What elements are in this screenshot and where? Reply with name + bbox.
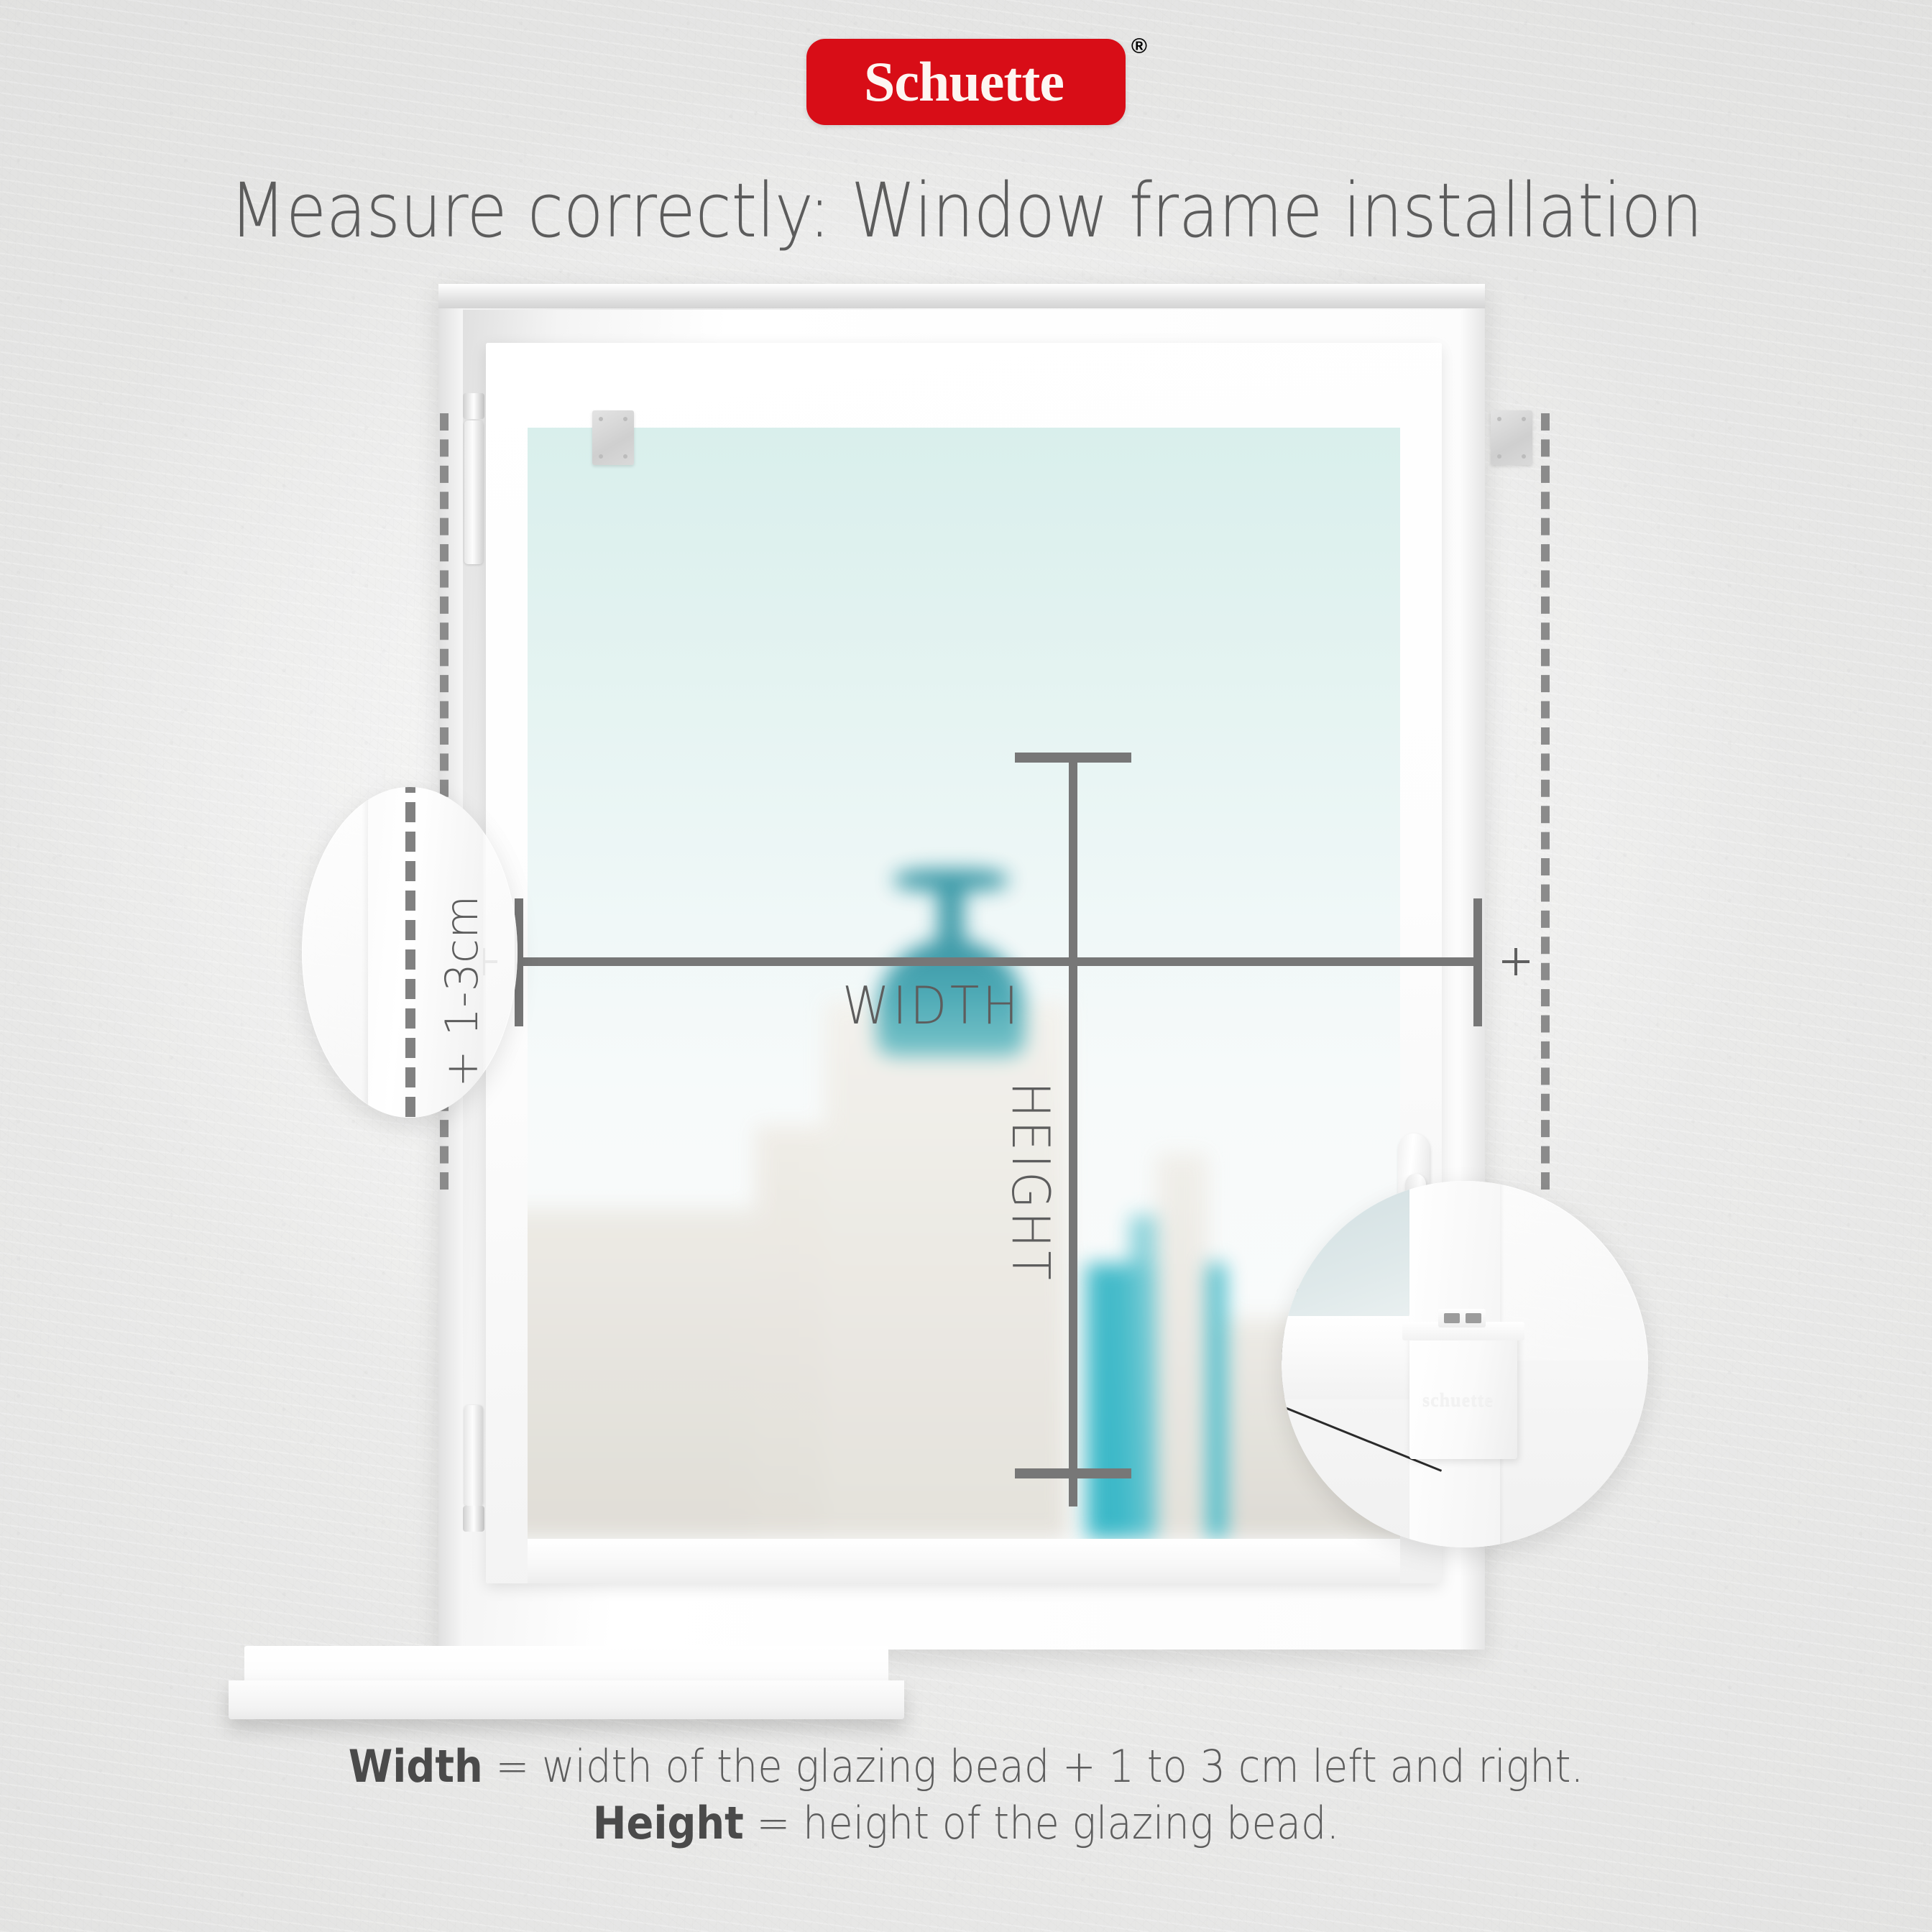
reveal-lintel [438, 284, 1485, 308]
magnifier-left-tolerance: + 1-3cm [302, 787, 517, 1118]
window-sill [229, 1646, 904, 1719]
tolerance-label: + 1-3cm [436, 896, 488, 1087]
building-right-slim [1156, 1153, 1208, 1539]
width-measure-line [515, 957, 1482, 966]
magnified-dashed-line [405, 787, 415, 1118]
blind-bracket-logo: schuette [1422, 1389, 1494, 1411]
height-measure-line [1069, 755, 1077, 1506]
window-sill-face [229, 1680, 904, 1719]
width-measure-endcap-right [1473, 898, 1482, 1026]
blind-bracket-slot-b [1466, 1313, 1481, 1323]
caption-height-rest: = height of the glazing bead. [744, 1797, 1339, 1849]
mounting-plate-right [1491, 410, 1532, 465]
brand-logo: Schuette ® [806, 39, 1126, 125]
blind-bracket-slot-a [1444, 1313, 1460, 1323]
magnified-frame-horizontal [1282, 1316, 1418, 1399]
width-label: WIDTH [842, 975, 1021, 1036]
brand-logo-text: Schuette [864, 54, 1068, 110]
window-frame-bottom-rail [528, 1539, 1400, 1583]
window-hinge-top [464, 420, 483, 564]
page-title: Measure correctly: Window frame installa… [116, 167, 1816, 254]
hinge-knuckle-top [463, 393, 484, 419]
caption-width-rest: = width of the glazing bead + 1 to 3 cm … [483, 1740, 1584, 1793]
mounting-plate-left [592, 410, 634, 465]
dome-statue-wings [894, 869, 1008, 891]
dashed-extension-line-right [1541, 413, 1550, 1190]
caption-block: Width = width of the glazing bead + 1 to… [0, 1738, 1932, 1852]
window-hinge-bottom [464, 1405, 483, 1506]
height-measure-endcap-top [1015, 753, 1131, 763]
cityscape-view [528, 850, 1400, 1539]
caption-height-bold: Height [593, 1797, 744, 1849]
caption-width-bold: Width [349, 1740, 483, 1793]
height-measure-endcap-bottom [1015, 1468, 1131, 1478]
height-label: HEIGHT [1000, 1082, 1061, 1283]
hinge-knuckle-bottom [463, 1506, 484, 1532]
caption-height: Height = height of the glazing bead. [96, 1795, 1835, 1851]
magnifier-right-bracket: schuette [1282, 1181, 1648, 1547]
building-left [528, 1208, 755, 1539]
caption-width: Width = width of the glazing bead + 1 to… [96, 1738, 1835, 1795]
registered-trademark-icon: ® [1131, 34, 1147, 59]
plus-icon-right [1502, 948, 1529, 975]
